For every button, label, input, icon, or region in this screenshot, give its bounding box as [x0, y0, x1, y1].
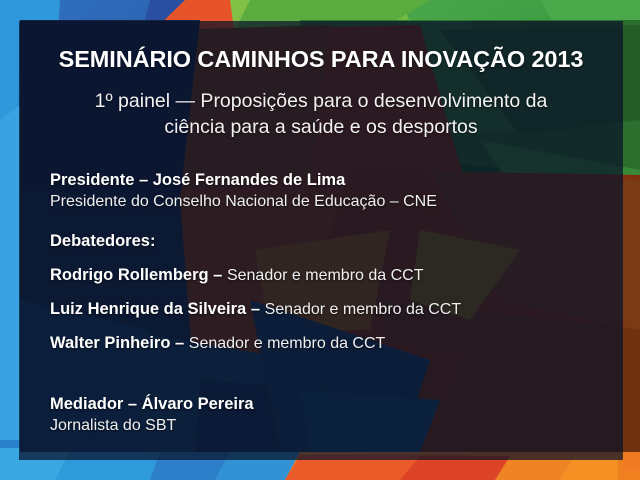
mediator-name: Mediador – Álvaro Pereira [50, 394, 610, 415]
slide-content: SEMINÁRIO CAMINHOS PARA INOVAÇÃO 2013 1º… [0, 0, 640, 480]
list-item: Luiz Henrique da Silveira – Senador e me… [50, 299, 610, 320]
slide-subtitle: 1º painel — Proposições para o desenvolv… [45, 88, 597, 140]
page-title: SEMINÁRIO CAMINHOS PARA INOVAÇÃO 2013 [19, 45, 623, 73]
debater-separator: – [209, 266, 227, 284]
debater-separator: – [246, 300, 264, 318]
debater-separator: – [170, 334, 188, 352]
spacer [50, 320, 610, 333]
debater-name: Rodrigo Rollemberg [50, 266, 209, 284]
spacer [50, 252, 610, 265]
debaters-heading: Debatedores: [50, 231, 610, 252]
participants-block: Presidente – José Fernandes de Lima Pres… [50, 170, 610, 437]
spacer [50, 213, 610, 231]
president-affiliation: Presidente do Conselho Nacional de Educa… [50, 191, 610, 213]
debater-role: Senador e membro da CCT [265, 301, 462, 318]
debater-name: Luiz Henrique da Silveira [50, 300, 246, 318]
list-item: Walter Pinheiro – Senador e membro da CC… [50, 333, 610, 354]
debater-name: Walter Pinheiro [50, 334, 170, 352]
president-name: Presidente – José Fernandes de Lima [50, 170, 610, 191]
spacer [50, 354, 610, 394]
debater-role: Senador e membro da CCT [189, 335, 386, 352]
subtitle-line-1: 1º painel — Proposições para o desenvolv… [45, 88, 597, 114]
subtitle-line-2: ciência para a saúde e os desportos [45, 114, 597, 140]
list-item: Rodrigo Rollemberg – Senador e membro da… [50, 265, 610, 286]
spacer [50, 286, 610, 299]
mediator-affiliation: Jornalista do SBT [50, 415, 610, 437]
presentation-slide: SEMINÁRIO CAMINHOS PARA INOVAÇÃO 2013 1º… [0, 0, 640, 480]
debater-role: Senador e membro da CCT [227, 267, 424, 284]
